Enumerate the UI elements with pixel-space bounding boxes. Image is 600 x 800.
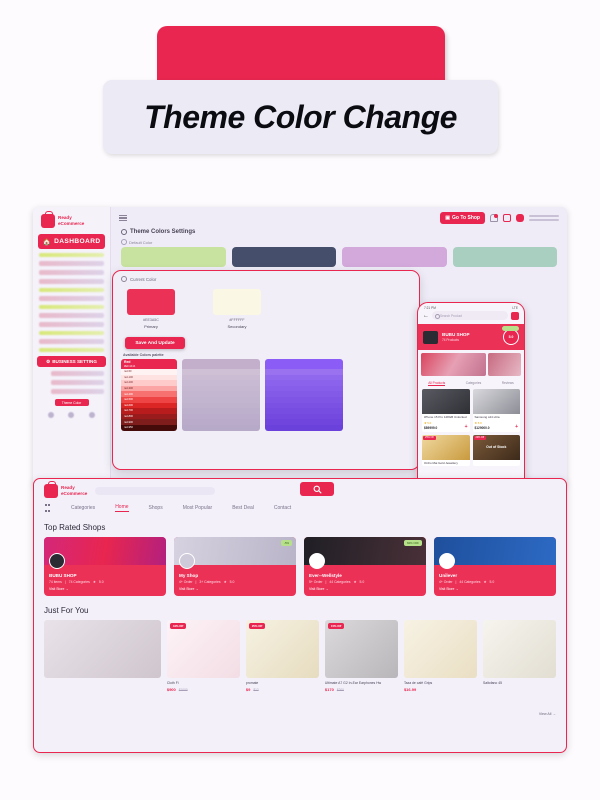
shop-meta: 4+ Order|3+ Categories ★5.0 — [179, 580, 291, 584]
shop-rating-badge: 5.0 — [503, 329, 519, 345]
dashboard-label: DASHBOARD — [54, 238, 100, 245]
cart-icon[interactable] — [503, 214, 511, 222]
visit-store-link[interactable]: Visit Store → — [179, 587, 291, 591]
nav-item-categories[interactable]: Categories — [71, 505, 95, 511]
discount-badge: 25% Off — [423, 436, 436, 440]
shop-avatar — [309, 553, 325, 569]
shop-name: Ever--Wellstyle — [309, 573, 421, 578]
sidebar: Ready eCommerce 🏠 DASHBOARD ⚙ BUSINESS S… — [33, 207, 111, 487]
product-card[interactable]: Saltofano 45 — [483, 620, 556, 692]
visit-store-link[interactable]: Visit Store → — [439, 587, 551, 591]
palette-red[interactable]: Red #EF4444 red-50 red-100 red-200 red-3… — [121, 359, 177, 431]
product-card[interactable]: Taza de café Grips $16.99 — [404, 620, 477, 692]
title-plate: Theme Color Change — [103, 80, 498, 154]
search-input[interactable] — [95, 487, 215, 495]
product-image: 25% Off — [422, 435, 470, 460]
sidebar-item[interactable] — [39, 296, 104, 301]
nav-item-home[interactable]: Home — [115, 504, 128, 512]
page-title: Theme Color Change — [144, 99, 457, 136]
product-name: Taza de café Grips — [404, 681, 477, 685]
visit-store-link[interactable]: Visit Store → — [309, 587, 421, 591]
title-banner: Theme Color Change — [0, 0, 600, 190]
old-price: $12 — [253, 688, 258, 692]
status-time: 7:21 PM — [424, 306, 436, 310]
shop-card[interactable]: 60% OFF Ever--Wellstyle 5+ Order|44 Cate… — [304, 537, 426, 596]
sidebar-group-heading — [39, 288, 104, 292]
search-input[interactable]: Search Product — [432, 311, 508, 320]
palette-mauve[interactable] — [182, 359, 260, 431]
sidebar-subitem[interactable] — [51, 389, 104, 394]
product-name: Ultimate A7 G2 In-Ear Earphones Hw — [325, 681, 398, 685]
tab-categories[interactable]: Categories — [466, 381, 481, 386]
shop-card[interactable]: BUBU SHOP 74 items|74 Categories ★5.0 Vi… — [44, 537, 166, 596]
gallery-image[interactable] — [421, 353, 486, 376]
add-to-cart-icon[interactable]: + — [515, 426, 518, 429]
product-image — [473, 389, 521, 414]
sidebar-item-business-setting[interactable]: ⚙ BUSINESS SETTING — [37, 356, 106, 367]
shop-card-list: BUBU SHOP 74 items|74 Categories ★5.0 Vi… — [44, 537, 556, 596]
gear-icon: ⚙ — [46, 359, 50, 365]
theme-settings-title: Theme Colors Settings — [111, 229, 567, 239]
sidebar-subitem-theme-color[interactable]: Theme Color — [55, 399, 89, 406]
product-card[interactable] — [44, 620, 161, 692]
storefront-nav: Categories Home Shops Most Popular Best … — [34, 498, 566, 519]
sidebar-subitem[interactable] — [51, 371, 104, 376]
cart-icon[interactable] — [511, 312, 519, 320]
color-swatches: #EE3A5C Primary #FFFFFF Secondary — [113, 282, 419, 329]
sidebar-brand[interactable]: Ready eCommerce — [33, 207, 110, 231]
discount-badge: 60% OFF — [404, 540, 422, 546]
shop-name: My Shop — [179, 573, 291, 578]
product-price: $170$200 — [325, 687, 398, 692]
gallery-image[interactable] — [488, 353, 521, 376]
product-price: $89999.0+ — [422, 425, 470, 432]
brand-line1: Ready — [58, 215, 72, 220]
shade-row[interactable] — [265, 425, 343, 431]
tab-all-products[interactable]: All Products — [428, 381, 445, 386]
primary-color-swatch[interactable] — [127, 289, 175, 315]
shop-name: BUBU SHOP — [442, 332, 470, 337]
sidebar-item[interactable] — [39, 313, 104, 318]
shop-tabs: All Products Categories Reviews — [418, 379, 524, 389]
product-price: $129000.0+ — [473, 425, 521, 432]
avatar[interactable] — [516, 214, 524, 222]
sidebar-group-heading — [39, 305, 104, 309]
star-icon: ★ — [224, 580, 227, 584]
nav-item-most-popular[interactable]: Most Popular — [183, 505, 212, 511]
product-name: iPhone 15 Pro 128GB Unlocked — [422, 414, 470, 420]
star-icon: ★ — [93, 580, 96, 584]
shop-card[interactable]: -5% My Shop 4+ Order|3+ Categories ★5.0 … — [174, 537, 296, 596]
green-tile[interactable] — [121, 247, 226, 267]
product-card[interactable]: 15% Off Ultimate A7 G2 In-Ear Earphones … — [325, 620, 398, 692]
secondary-label: Secondary — [213, 324, 261, 329]
footer-icon[interactable] — [48, 412, 54, 418]
storefront-window: Ready eCommerce Categories Home Shops Mo… — [33, 478, 567, 753]
primary-label: Primary — [127, 324, 175, 329]
add-to-cart-icon[interactable]: + — [465, 426, 468, 429]
star-icon: ★ — [354, 580, 357, 584]
product-image: 20% Off Out of Stock — [473, 435, 521, 460]
shop-card[interactable]: Unilever 4+ Order|44 Categories ★5.0 Vis… — [434, 537, 556, 596]
star-icon: ★ — [484, 580, 487, 584]
shop-meta: 4+ Order|44 Categories ★5.0 — [439, 580, 551, 584]
product-card[interactable]: 20% Off Out of Stock — [473, 435, 521, 466]
nav-item-shops[interactable]: Shops — [149, 505, 163, 511]
sidebar-subitem[interactable] — [51, 380, 104, 385]
footer-icon[interactable] — [89, 412, 95, 418]
product-image: 15% Off — [325, 620, 398, 678]
discount-badge: 15% Off — [328, 623, 344, 629]
go-to-shop-label: Go To Shop — [452, 215, 480, 221]
visit-store-link[interactable]: Visit Store → — [49, 587, 161, 591]
product-price: $900$1000 — [167, 687, 240, 692]
sidebar-item[interactable] — [39, 322, 104, 327]
shop-gallery — [418, 350, 524, 379]
product-card[interactable]: 25% Off Ordro Mai Gold Jewellery — [422, 435, 470, 466]
storefront-icon: ▣ — [445, 215, 450, 221]
search-icon — [313, 485, 322, 494]
discount-badge: 25% Off — [249, 623, 265, 629]
brand-line2: eCommerce — [61, 491, 87, 496]
home-icon: 🏠 — [42, 238, 51, 246]
secondary-hex: #FFFFFF — [213, 318, 261, 322]
arrow-left-icon[interactable]: ← — [423, 313, 429, 319]
product-image — [44, 620, 161, 678]
go-to-shop-button[interactable]: ▣ Go To Shop — [440, 212, 485, 224]
default-color-tiles — [111, 247, 567, 267]
product-name: Ordro Mai Gold Jewellery — [422, 460, 470, 466]
shade-row[interactable]: red-950 — [121, 425, 177, 431]
product-name: promate — [246, 681, 319, 685]
view-all-link[interactable]: View All → — [539, 712, 556, 716]
shop-product-count: 74 Products — [442, 338, 470, 342]
product-card[interactable]: 44% Off Cloth Fi $900$1000 — [167, 620, 240, 692]
discount-badge: 44% Off — [170, 623, 186, 629]
old-price: $200 — [337, 688, 344, 692]
shop-avatar — [49, 553, 65, 569]
product-card-list: 44% Off Cloth Fi $900$1000 25% Off proma… — [44, 620, 556, 692]
product-price: $9$12 — [246, 687, 319, 692]
product-grid: iPhone 15 Pro 128GB Unlocked ★ 5.0 $8999… — [418, 389, 524, 466]
business-setting-label: BUSINESS SETTING — [52, 359, 97, 364]
palette-purple[interactable] — [265, 359, 343, 431]
bell-icon[interactable] — [490, 214, 498, 222]
out-of-stock-overlay: Out of Stock — [473, 435, 521, 460]
color-palettes: Red #EF4444 red-50 red-100 red-200 red-3… — [113, 359, 419, 431]
old-price: $1000 — [179, 688, 188, 692]
primary-hex: #EE3A5C — [127, 318, 175, 322]
product-image — [404, 620, 477, 678]
sidebar-item[interactable] — [39, 261, 104, 266]
shop-badge-pill — [502, 326, 519, 331]
sidebar-footer-icons — [33, 406, 110, 418]
shop-name: BUBU SHOP — [49, 573, 161, 578]
product-image: 25% Off — [246, 620, 319, 678]
shop-logo — [423, 331, 438, 344]
product-image: 44% Off — [167, 620, 240, 678]
shop-meta: 5+ Order|44 Categories ★5.0 — [309, 580, 421, 584]
product-card[interactable]: iPhone 15 Pro 128GB Unlocked ★ 5.0 $8999… — [422, 389, 470, 432]
top-rated-shops-section: Top Rated Shops BUBU SHOP 74 items|74 Ca… — [34, 519, 566, 596]
sidebar-item-dashboard[interactable]: 🏠 DASHBOARD — [38, 234, 105, 249]
product-price: $16.99 — [404, 687, 477, 692]
shop-avatar — [179, 553, 195, 569]
shop-header: BUBU SHOP 74 Products 5.0 — [418, 324, 524, 350]
palette-label: Available Colors palette — [113, 349, 419, 359]
current-color-header: Current Color — [113, 271, 419, 282]
sidebar-item[interactable] — [39, 270, 104, 275]
product-image — [422, 389, 470, 414]
save-and-update-button[interactable]: Save And Update — [125, 337, 185, 349]
phone-search-bar: ← Search Product — [418, 311, 524, 324]
section-heading: Top Rated Shops — [44, 523, 556, 532]
navy-tile[interactable] — [232, 247, 337, 267]
hamburger-icon[interactable] — [119, 213, 127, 223]
product-name: Cloth Fi — [167, 681, 240, 685]
gear-icon — [121, 229, 127, 235]
current-color-card: Current Color #EE3A5C Primary #FFFFFF Se… — [112, 270, 420, 470]
shopping-bag-icon — [41, 214, 55, 228]
brand-line2: eCommerce — [58, 221, 84, 226]
discount-badge: -5% — [281, 540, 292, 546]
default-color-label: Default Color — [111, 239, 567, 247]
grid-icon[interactable] — [44, 502, 51, 514]
sidebar-group-heading — [39, 253, 104, 257]
user-name-placeholder — [529, 214, 559, 223]
storefront-brand[interactable]: Ready eCommerce — [44, 484, 87, 498]
product-card[interactable]: Samsung s24 ultra ★ 5.0 $129000.0+ — [473, 389, 521, 432]
sidebar-group-heading — [39, 331, 104, 335]
tab-reviews[interactable]: Reviews — [502, 381, 514, 386]
sidebar-item[interactable] — [39, 339, 104, 344]
sidebar-item[interactable] — [39, 279, 104, 284]
shop-avatar — [439, 553, 455, 569]
shop-name: Unilever — [439, 573, 551, 578]
sidebar-group-heading — [39, 348, 104, 352]
palette-hex: #EF4444 — [124, 364, 177, 368]
section-heading: Just For You — [44, 606, 556, 615]
status-network: LTE — [512, 306, 518, 310]
nav-item-contact[interactable]: Contact — [274, 505, 291, 511]
shopping-bag-icon — [44, 484, 58, 498]
brand-line1: Ready — [61, 485, 75, 490]
dashboard-topbar: ▣ Go To Shop — [111, 207, 567, 229]
teal-tile[interactable] — [453, 247, 558, 267]
product-image — [483, 620, 556, 678]
purple-tile[interactable] — [342, 247, 447, 267]
just-for-you-section: Just For You 44% Off Cloth Fi $900$1000 … — [34, 596, 566, 692]
product-name: Saltofano 45 — [483, 681, 556, 685]
product-card[interactable]: 25% Off promate $9$12 — [246, 620, 319, 692]
phone-status-bar: 7:21 PM LTE — [418, 303, 524, 311]
footer-icon[interactable] — [68, 412, 74, 418]
shop-meta: 74 items|74 Categories ★5.0 — [49, 580, 161, 584]
secondary-color-swatch[interactable] — [213, 289, 261, 315]
shade-row[interactable] — [182, 425, 260, 431]
search-button[interactable] — [300, 482, 334, 496]
nav-item-best-deal[interactable]: Best Deal — [232, 505, 254, 511]
